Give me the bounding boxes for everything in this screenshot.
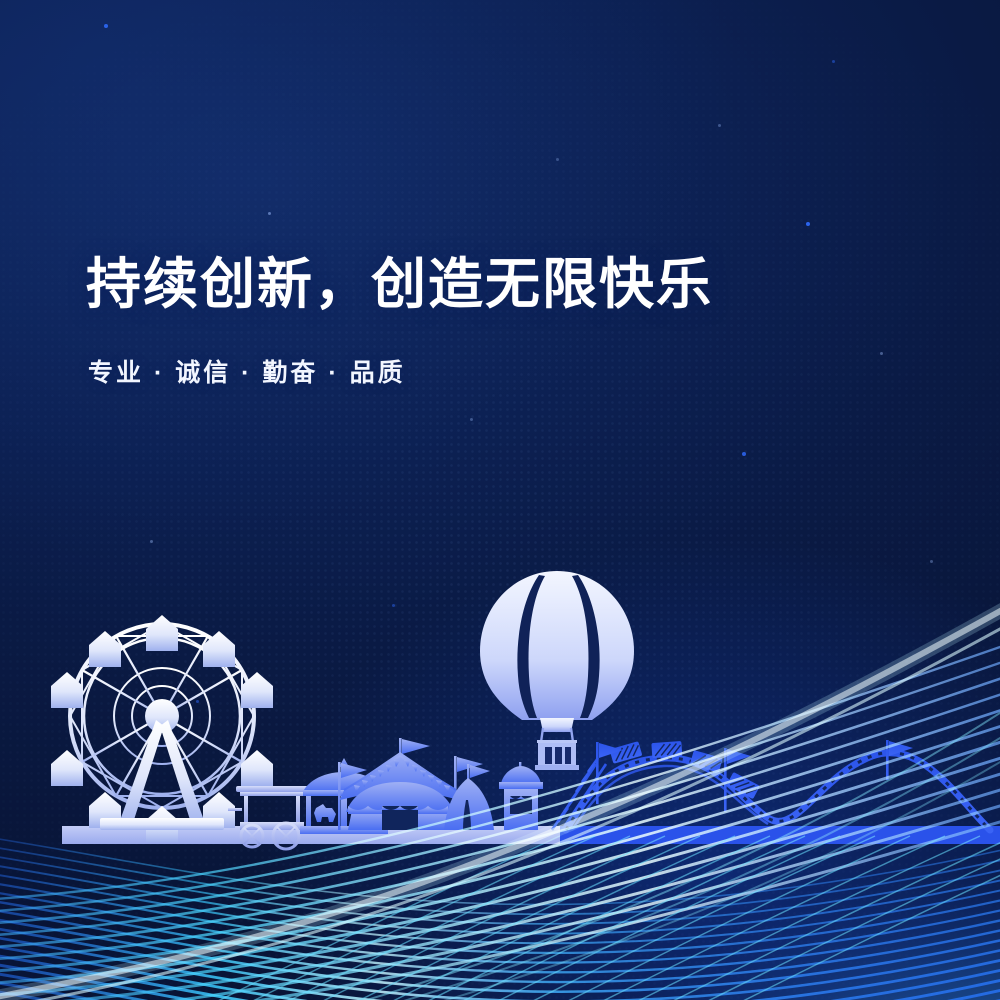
headline-block: 持续创新，创造无限快乐 专业 · 诚信 · 勤奋 · 品质 [86,252,906,389]
page-title: 持续创新，创造无限快乐 [86,252,906,317]
poster-canvas: 持续创新，创造无限快乐 专业 · 诚信 · 勤奋 · 品质 [0,0,1000,1000]
glowing-line-wave [0,0,1000,1000]
page-subtitle: 专业 · 诚信 · 勤奋 · 品质 [88,353,906,389]
